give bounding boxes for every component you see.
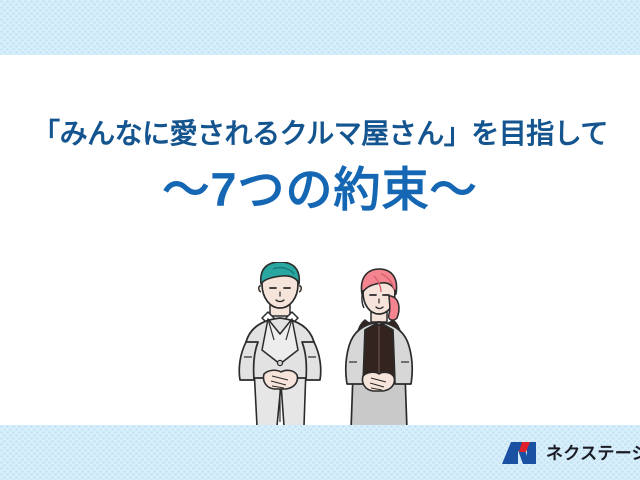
headline-block: 「みんなに愛されるクルマ屋さん」を目指して ～7つの約束～	[0, 118, 640, 216]
promise-banner: 「みんなに愛されるクルマ屋さん」を目指して ～7つの約束～	[0, 0, 640, 480]
staff-illustration-svg	[228, 262, 433, 430]
male-ear-right	[299, 286, 301, 292]
female-staff-figure	[346, 269, 413, 430]
male-jacket-button	[277, 360, 282, 365]
top-dot-band	[0, 0, 640, 55]
headline-primary: 「みんなに愛されるクルマ屋さん」を目指して	[0, 118, 640, 150]
male-clasped-hands	[263, 370, 297, 389]
male-staff-figure	[239, 262, 321, 426]
female-clasped-hands	[362, 372, 394, 391]
female-ponytail	[389, 296, 399, 320]
logo-left-stroke	[502, 442, 518, 464]
nextage-logo: ネクステージ	[502, 441, 640, 465]
staff-illustration	[228, 262, 433, 430]
nextage-n-mark-icon	[502, 441, 539, 465]
headline-secondary: ～7つの約束～	[0, 164, 640, 216]
male-ear-left	[259, 286, 261, 292]
nextage-logo-text: ネクステージ	[546, 445, 640, 462]
